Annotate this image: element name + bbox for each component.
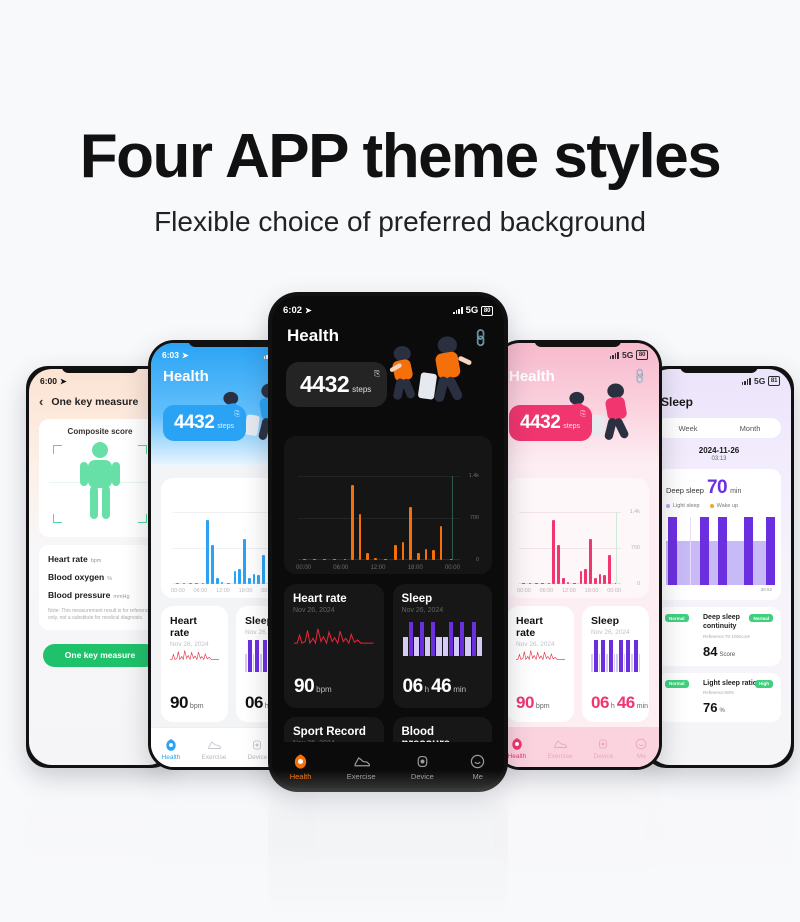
nav-label: Me [637,753,646,760]
scan-corner-tl-icon [53,445,62,454]
legend-wake-up: Wake up [710,503,739,509]
chart-bar [580,571,583,584]
chart-x-tick: 12:00 [562,588,576,594]
battery-icon: 81 [768,376,780,386]
card-value: 90 bpm [170,693,204,713]
chart-x-axis: 00:0006:0012:0018:0000:00 [171,588,275,594]
card-title: Sleep [591,615,640,627]
chart-bar [206,520,209,584]
card-heart-rate[interactable]: Heart rate Nov 26, 2024 90 bpm [507,606,574,722]
list-item: Blood oxygen% [48,572,152,582]
chart-axis-label: 36:52 [666,587,772,592]
person-icon [634,737,648,751]
chart-legend: Light sleep Wake up [666,503,772,509]
sleep-bar [248,640,252,672]
status-time: 6:00 [40,376,57,386]
metric-light-sleep-ratio[interactable]: Normal High Light sleep ratio Reference:… [657,673,781,723]
chart-y-label: 700 [631,545,640,551]
chart-bar [608,555,611,584]
steps-chart: 07001.4k [298,476,460,560]
steps-value: 4432 [300,371,349,398]
selected-date: 2024-11-26 [647,446,791,455]
summary-label: Deep sleep [666,486,704,495]
sleep-stage-chart [666,517,772,585]
chart-bar [344,559,347,560]
status-badge: Normal [749,614,773,622]
steps-unit: steps [563,423,580,430]
chart-x-tick: 00:00 [296,565,311,571]
sleep-bar [255,640,259,672]
bottom-nav: Health Exercise Device Me [497,727,659,767]
card-sleep[interactable]: Sleep Nov 26, 2024 06 h 46 min [582,606,649,722]
disclaimer-note: Note: This measurement result is for ref… [48,608,152,623]
nav-item-me[interactable]: Me [634,737,648,760]
sleep-bar [414,637,419,656]
sleep-bar [591,654,593,672]
one-key-measure-button[interactable]: One key measure [43,644,157,667]
status-badge: Normal [665,680,689,688]
status-badge: High [755,680,773,688]
health-shield-icon [164,738,178,752]
metric-unit: mmHg [113,594,129,600]
sleep-bar [253,654,255,672]
card-date: Nov 26, 2024 [591,629,640,636]
chart-bars [173,512,275,584]
chart-bar [221,582,224,584]
chart-bar [323,559,326,560]
card-date: Nov 26, 2024 [293,607,375,614]
phone-notch [534,340,621,347]
chart-x-tick: 00:00 [445,565,460,571]
signal-bars-icon [610,352,619,359]
chart-bar [541,583,544,584]
chart-bar [333,559,336,560]
value-hours: 06 [403,676,423,698]
card-title: Heart rate [516,615,565,639]
unit-hours: h [425,685,429,694]
phone-showcase: 6:00 ➤ ‹ One key measure Composite score [0,0,800,922]
chart-bar [359,514,362,560]
nav-item-device[interactable]: Device [247,738,267,761]
shoe-icon [353,753,370,770]
heart-rate-sparkline [170,640,219,670]
chart-bar [557,545,560,584]
chart-bar [234,571,237,584]
sleep-bar [634,640,638,672]
phone-notch [188,340,275,347]
steps-value: 4432 [174,412,214,434]
chart-y-label: 0 [476,557,479,563]
person-icon [469,753,486,770]
nav-item-health[interactable]: Health [162,738,181,761]
nav-item-me[interactable]: Me [469,753,486,781]
location-arrow-icon: ➤ [182,351,189,360]
sleep-bar [477,637,482,656]
metric-unit: % [107,576,112,582]
shoe-icon [553,737,567,751]
card-date: Nov 26, 2024 [402,607,484,614]
sleep-summary-value: Deep sleep 70 min [666,477,772,499]
nav-item-exercise[interactable]: Exercise [547,737,572,760]
scan-corner-bl-icon [53,514,62,523]
battery-icon: 80 [636,350,648,360]
card-value: 06 h 46 min [591,693,648,713]
card-value: 90 bpm [516,693,550,713]
network-label: 5G [754,376,765,386]
watch-icon [596,737,610,751]
value-unit: bpm [316,685,332,694]
metric-reference: Reference:50% [703,690,773,695]
metric-label: Blood pressure [48,590,110,600]
value-hours: 06 [245,693,263,713]
location-arrow-icon: ➤ [305,306,312,315]
phone-notch [680,366,758,373]
chart-x-tick: 06:00 [194,588,208,594]
sleep-bar [443,637,448,656]
nav-item-device[interactable]: Device [593,737,613,760]
chart-bar [384,559,387,560]
chart-bar [262,555,265,584]
value-hours: 06 [591,693,609,713]
nav-item-device[interactable]: Device [411,753,434,781]
card-sleep[interactable]: Sleep Nov 26, 2024 06 h 46 min [393,584,493,708]
value-unit: bpm [536,703,550,710]
value-unit: Score [719,652,735,658]
phone-notch [62,366,139,373]
unit-hours: h [611,703,615,710]
nav-label: Device [411,772,434,781]
sleep-bar [599,654,601,672]
chart-x-tick: 00:00 [517,588,531,594]
chart-bar [257,575,260,584]
sleep-bar [624,654,626,672]
value-minutes: 46 [617,693,635,713]
screen-title: One key measure [51,396,138,408]
nav-item-exercise[interactable]: Exercise [201,738,226,761]
summary-number: 70 [707,477,727,499]
sleep-bar [449,622,453,656]
nav-label: Health [290,772,312,781]
metric-reference: Reference:70-100score [703,634,773,639]
sleep-mini-chart [591,640,640,672]
sleep-mini-chart [403,622,483,656]
chart-bar [313,559,316,560]
metric-deep-sleep-continuity[interactable]: Normal Normal Deep sleep continuity Refe… [657,607,781,666]
sleep-bar [263,640,267,672]
sleep-bar [619,640,623,672]
chart-bar [303,559,306,560]
signal-bars-icon [453,307,462,314]
chart-bar [238,569,241,584]
shoe-icon [207,738,221,752]
steps-chart: 07001.4k [519,512,621,584]
chart-bar [584,569,587,584]
sleep-bar [431,622,435,656]
chart-x-tick: 18:00 [408,565,423,571]
chart-x-tick: 06:00 [333,565,348,571]
body-silhouette-icon [77,441,123,521]
chart-bar [409,507,412,560]
chart-bar [176,583,179,584]
chart-bar [351,485,354,560]
metric-unit: bpm [91,558,102,564]
sleep-summary-card: Deep sleep 70 min Light sleep Wake up [657,469,781,600]
chart-bar [589,539,592,584]
steps-unit: steps [352,385,371,394]
chart-bars [519,512,621,584]
card-heart-rate[interactable]: Heart rate Nov 26, 2024 90 bpm [284,584,384,708]
unit-minutes: min [453,685,466,694]
nav-label: Device [247,754,267,761]
screen-title: Sleep [647,386,791,409]
value-number: 90 [294,676,314,698]
sleep-bar [460,622,464,656]
chart-bar [248,578,251,584]
card-title: Heart rate [170,615,219,639]
nav-label: Exercise [547,753,572,760]
composite-score-card: Composite score [39,419,161,537]
chart-bars [298,476,460,560]
chart-bar [366,553,369,560]
chart-bar [374,558,377,560]
sleep-bar [601,640,605,672]
nav-item-exercise[interactable]: Exercise [347,753,376,781]
sleep-bar [614,654,616,672]
signal-bars-icon [742,378,751,385]
bottom-nav: Health Exercise Device Me [272,742,504,788]
value-number: 90 [516,693,534,713]
list-item: Blood pressuremmHg [48,590,152,600]
scan-corner-tr-icon [138,445,147,454]
status-time: 6:03 [162,350,179,360]
camera-punch-hole [384,298,392,306]
expand-icon[interactable]: ⎘ [234,411,240,419]
health-shield-icon [510,737,524,751]
sleep-bar [606,654,608,672]
chart-bar [195,583,198,584]
legend-label: Wake up [717,503,739,509]
chart-bar [183,583,186,584]
chart-bar [253,574,256,584]
sleep-bar [639,654,641,672]
legend-label: Light sleep [673,503,700,509]
summary-unit: min [730,488,741,495]
health-shield-icon [292,753,309,770]
sleep-bar [465,637,470,656]
chart-bar [202,583,205,584]
tab-week[interactable]: Week [657,418,719,438]
chart-bar [567,582,570,584]
card-value: 06 h 46 min [403,676,467,698]
card-title: Heart rate [293,593,375,605]
metric-label: Blood oxygen [48,572,104,582]
chevron-left-icon[interactable]: ‹ [39,394,43,409]
value-number: 90 [170,693,188,713]
tab-month[interactable]: Month [719,418,781,438]
metric-label: Heart rate [48,554,88,564]
chart-bar [594,578,597,584]
card-title: Sport Record [293,726,375,738]
chart-bar [417,553,420,560]
chart-x-axis: 00:0006:0012:0018:0000:00 [296,565,460,571]
chart-bar [425,549,428,560]
sleep-bar [594,640,598,672]
chart-x-tick: 12:00 [216,588,230,594]
heart-rate-sparkline [294,620,374,652]
nav-label: Exercise [347,772,376,781]
nav-label: Me [473,772,483,781]
chart-bar [189,583,192,584]
sleep-bar [631,654,633,672]
location-arrow-icon: ➤ [60,377,67,386]
chart-x-axis: 00:0006:0012:0018:0000:00 [517,588,621,594]
sleep-bar [436,637,441,656]
chart-bar [573,583,576,584]
watch-icon [250,738,264,752]
nav-label: Device [593,753,613,760]
network-label: 5G [466,305,479,316]
heart-rate-sparkline [516,640,565,670]
sleep-bar [409,622,413,656]
value-number: 84 [703,644,717,659]
nav-label: Health [508,753,527,760]
sleep-bar [616,654,618,672]
sleep-bar [454,637,459,656]
steps-chart: 07001.4k [173,512,275,584]
chart-bar [211,545,214,584]
period-tabs: Week Month [657,418,781,438]
card-heart-rate[interactable]: Heart rate Nov 26, 2024 90 bpm [161,606,228,722]
floor-fade [0,770,800,920]
sleep-bar [609,640,613,672]
chart-bar [562,578,565,584]
metric-value: 76 % [703,700,773,715]
sleep-bar [626,640,630,672]
chart-bar [529,583,532,584]
selected-time: 03:13 [647,456,791,462]
chart-x-tick: 18:00 [585,588,599,594]
chart-bar [402,542,405,560]
card-value: 90 bpm [294,676,332,698]
steps-value: 4432 [520,412,560,434]
measurement-list: Heart ratebpm Blood oxygen% Blood pressu… [39,545,161,630]
metric-value: 84 Score [703,644,773,659]
chart-bar [548,583,551,584]
chart-bar [216,578,219,584]
nav-item-health[interactable]: Health [290,753,312,781]
chart-bar [552,520,555,584]
chart-y-label: 1.4k [469,473,479,479]
nav-item-health[interactable]: Health [508,737,527,760]
sleep-bar [425,637,430,656]
value-minutes: 46 [431,676,451,698]
chart-bar [432,550,435,560]
steps-unit: steps [217,423,234,430]
list-item: Heart ratebpm [48,554,152,564]
chart-bar [599,574,602,584]
chart-y-label: 0 [637,581,640,587]
legend-light-sleep: Light sleep [666,503,700,509]
chart-x-tick: 00:00 [607,588,621,594]
sleep-bar [472,622,476,656]
value-unit: bpm [190,703,204,710]
chart-bar [394,545,397,560]
status-time: 6:02 [283,305,302,316]
chart-x-tick: 18:00 [239,588,253,594]
phone-dark-theme[interactable]: 6:02 ➤ 5G 80 Health 🔗 4432 [268,292,508,792]
network-label: 5G [622,350,633,360]
value-number: 76 [703,700,717,715]
expand-icon[interactable]: ⎘ [374,369,380,379]
expand-icon[interactable]: ⎘ [580,411,586,419]
phone-pink-theme[interactable]: 5G 80 Health 🔗 4432 steps ⎘ [494,340,662,770]
chart-bar [227,583,230,584]
chart-bar [535,583,538,584]
phone-sleep-screen[interactable]: 5G 81 Sleep Week Month 2024-11-26 03:13 … [644,366,794,768]
chart-y-label: 1.4k [630,509,640,515]
card-title: Sleep [402,593,484,605]
sleep-bar [245,654,247,672]
chart-bar [603,575,606,584]
sleep-bar [420,622,424,656]
chart-y-label: 700 [470,515,479,521]
chart-bar [243,539,246,584]
nav-label: Exercise [201,754,226,761]
value-unit: % [719,708,724,714]
composite-score-label: Composite score [47,427,153,436]
nav-label: Health [162,754,181,761]
scan-corner-br-icon [138,514,147,523]
status-badge: Normal [665,614,689,622]
sleep-bar [403,637,408,656]
chart-x-tick: 00:00 [171,588,185,594]
unit-minutes: min [637,703,648,710]
chart-x-tick: 06:00 [540,588,554,594]
chart-x-tick: 12:00 [370,565,385,571]
chart-bar [522,583,525,584]
chart-bar [440,526,443,560]
battery-icon: 80 [481,306,493,316]
watch-icon [414,753,431,770]
sleep-bar [260,654,262,672]
